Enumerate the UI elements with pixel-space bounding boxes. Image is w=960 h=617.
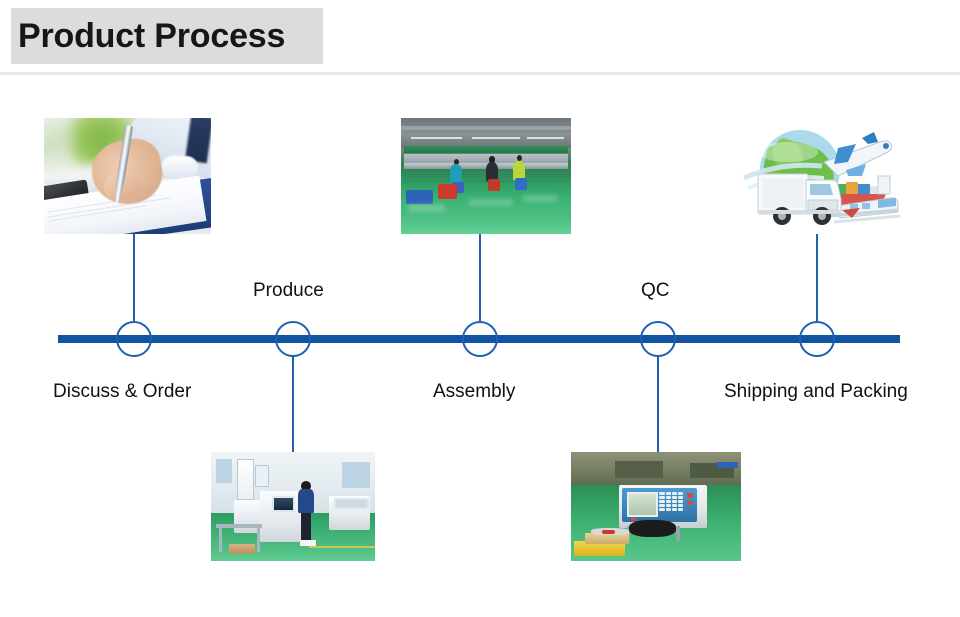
stage-label-discuss-order: Discuss & Order [53,382,191,401]
work-bench-row [404,146,567,163]
connector-node-3 [479,234,481,321]
info-board [237,459,254,500]
trolley-leg [219,528,222,552]
header-divider [0,72,960,75]
qc-tester-photo-content [571,452,741,561]
floor-marking [309,546,375,548]
page-title-text: Product Process [18,19,285,53]
stage-label-qc: QC [641,281,670,300]
ceiling-light [527,137,564,140]
stool [515,178,527,190]
stool [488,179,500,191]
header-bar: Product Process [0,0,960,75]
connector-node-5 [816,234,818,321]
wall-panel [342,462,370,488]
production-area-photo-content [211,452,375,561]
ceiling-duct [401,126,571,129]
red-button [687,493,694,497]
stage-label-shipping-packing: Shipping and Packing [724,382,908,401]
blue-bin [717,462,737,469]
red-button [687,501,694,505]
test-instrument-screen [627,492,658,517]
assembly-line-photo-content [401,118,571,234]
timeline-node-4[interactable] [640,321,676,357]
timeline-node-2[interactable] [275,321,311,357]
keypad [659,492,683,511]
stage-label-assembly: Assembly [433,382,515,401]
connector-node-2 [292,356,294,452]
floor-reflection [469,199,513,206]
ceiling-light [472,137,520,140]
assembly-line-photo [401,118,571,234]
cable-bundle [629,520,677,537]
red-crate [438,184,457,199]
contract-signing-photo-content [44,118,211,234]
info-board [255,465,268,487]
timeline-node-3[interactable] [462,321,498,357]
wall-panel [216,459,232,483]
qc-tester-photo [571,452,741,561]
background-table [615,461,663,478]
trolley-leg [257,528,260,552]
timeline-node-1[interactable] [116,321,152,357]
operator-body [298,489,314,513]
ceiling [401,118,571,148]
page-title: Product Process [11,8,323,64]
connector-node-1 [133,234,135,321]
contract-signing-photo [44,118,211,234]
stage-label-produce: Produce [253,281,324,300]
operator-legs [301,513,311,541]
rack-panel [334,498,369,510]
logistics-graphic-svg [738,118,901,234]
connector-node-4 [657,356,659,452]
red-clip [602,530,616,533]
stand-leg [676,526,679,541]
floor-reflection [523,195,557,202]
power-indicator [631,517,636,520]
timeline-node-5[interactable] [799,321,835,357]
logistics-graphic [738,118,901,234]
trolley-top [216,524,262,528]
ceiling-light [411,137,462,140]
production-area-photo [211,452,375,561]
floor-reflection [408,204,445,212]
blue-crate [406,190,433,204]
machine-screen [272,496,296,512]
cardboard-box [229,544,255,555]
